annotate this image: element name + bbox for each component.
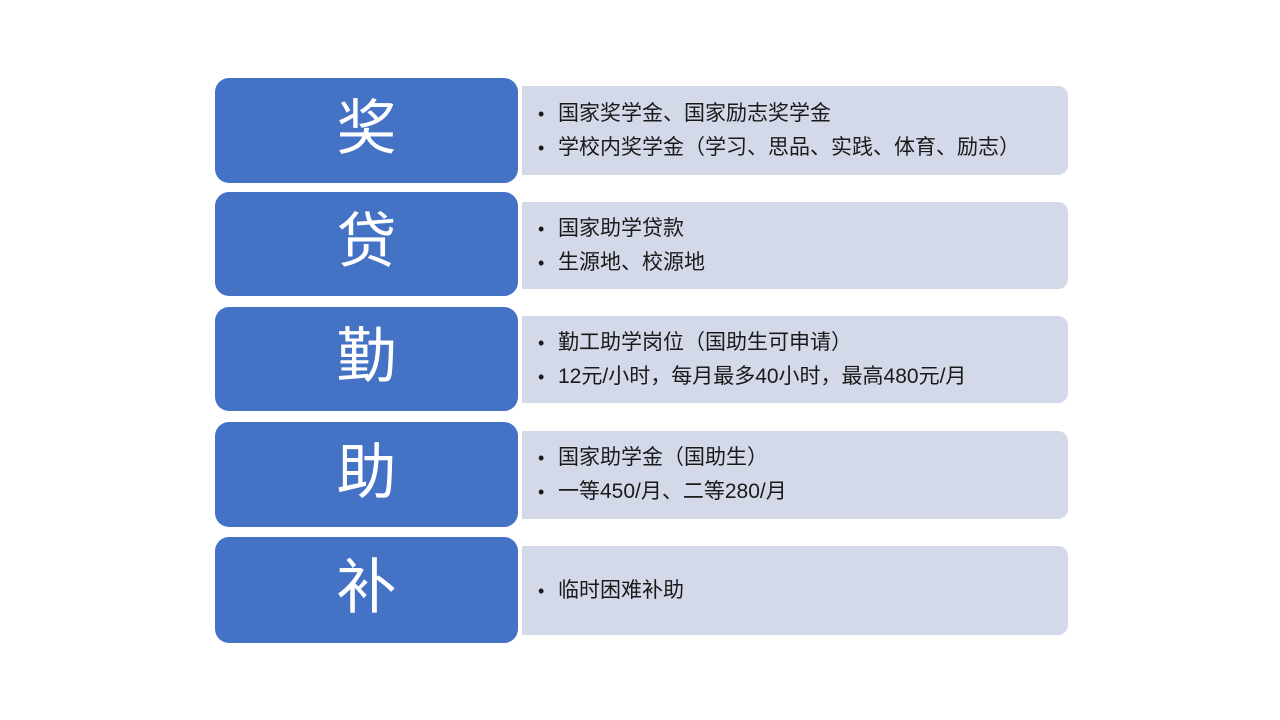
category-description-panel-subsidy: 临时困难补助 — [522, 546, 1068, 635]
bullet-item: 国家助学贷款 — [536, 212, 1060, 246]
bullet-item: 生源地、校源地 — [536, 246, 1060, 280]
category-label-box-grant[interactable]: 助 — [215, 422, 518, 527]
category-row-work-study: 勤 勤工助学岗位（国助生可申请） 12元/小时，每月最多40小时，最高480元/… — [215, 307, 1068, 411]
category-label-char-loan: 贷 — [337, 212, 397, 276]
bullet-item: 学校内奖学金（学习、思品、实践、体育、励志） — [536, 131, 1060, 165]
category-description-panel-work-study: 勤工助学岗位（国助生可申请） 12元/小时，每月最多40小时，最高480元/月 — [522, 316, 1068, 403]
bullet-list-grant: 国家助学金（国助生） 一等450/月、二等280/月 — [536, 441, 1060, 509]
category-label-box-work-study[interactable]: 勤 — [215, 307, 518, 411]
category-description-panel-loan: 国家助学贷款 生源地、校源地 — [522, 202, 1068, 289]
bullet-list-work-study: 勤工助学岗位（国助生可申请） 12元/小时，每月最多40小时，最高480元/月 — [536, 326, 1060, 394]
bullet-list-loan: 国家助学贷款 生源地、校源地 — [536, 212, 1060, 280]
bullet-item: 临时困难补助 — [536, 574, 1060, 608]
bullet-item: 国家助学金（国助生） — [536, 441, 1060, 475]
category-label-box-award[interactable]: 奖 — [215, 78, 518, 183]
category-row-award: 奖 国家奖学金、国家励志奖学金 学校内奖学金（学习、思品、实践、体育、励志） — [215, 78, 1068, 183]
category-label-char-subsidy: 补 — [337, 558, 397, 622]
bullet-list-subsidy: 临时困难补助 — [536, 574, 1060, 608]
bullet-item: 国家奖学金、国家励志奖学金 — [536, 97, 1060, 131]
category-row-grant: 助 国家助学金（国助生） 一等450/月、二等280/月 — [215, 422, 1068, 527]
slide-canvas: 奖 国家奖学金、国家励志奖学金 学校内奖学金（学习、思品、实践、体育、励志） 贷… — [0, 0, 1280, 720]
category-label-box-subsidy[interactable]: 补 — [215, 537, 518, 643]
category-description-panel-award: 国家奖学金、国家励志奖学金 学校内奖学金（学习、思品、实践、体育、励志） — [522, 86, 1068, 175]
bullet-item: 一等450/月、二等280/月 — [536, 475, 1060, 509]
category-row-subsidy: 补 临时困难补助 — [215, 537, 1068, 643]
bullet-item: 12元/小时，每月最多40小时，最高480元/月 — [536, 360, 1060, 394]
bullet-list-award: 国家奖学金、国家励志奖学金 学校内奖学金（学习、思品、实践、体育、励志） — [536, 97, 1060, 165]
category-row-loan: 贷 国家助学贷款 生源地、校源地 — [215, 192, 1068, 296]
category-label-box-loan[interactable]: 贷 — [215, 192, 518, 296]
bullet-item: 勤工助学岗位（国助生可申请） — [536, 326, 1060, 360]
category-label-char-grant: 助 — [337, 443, 397, 507]
category-description-panel-grant: 国家助学金（国助生） 一等450/月、二等280/月 — [522, 431, 1068, 519]
category-label-char-award: 奖 — [337, 99, 397, 163]
category-label-char-work-study: 勤 — [337, 327, 397, 391]
